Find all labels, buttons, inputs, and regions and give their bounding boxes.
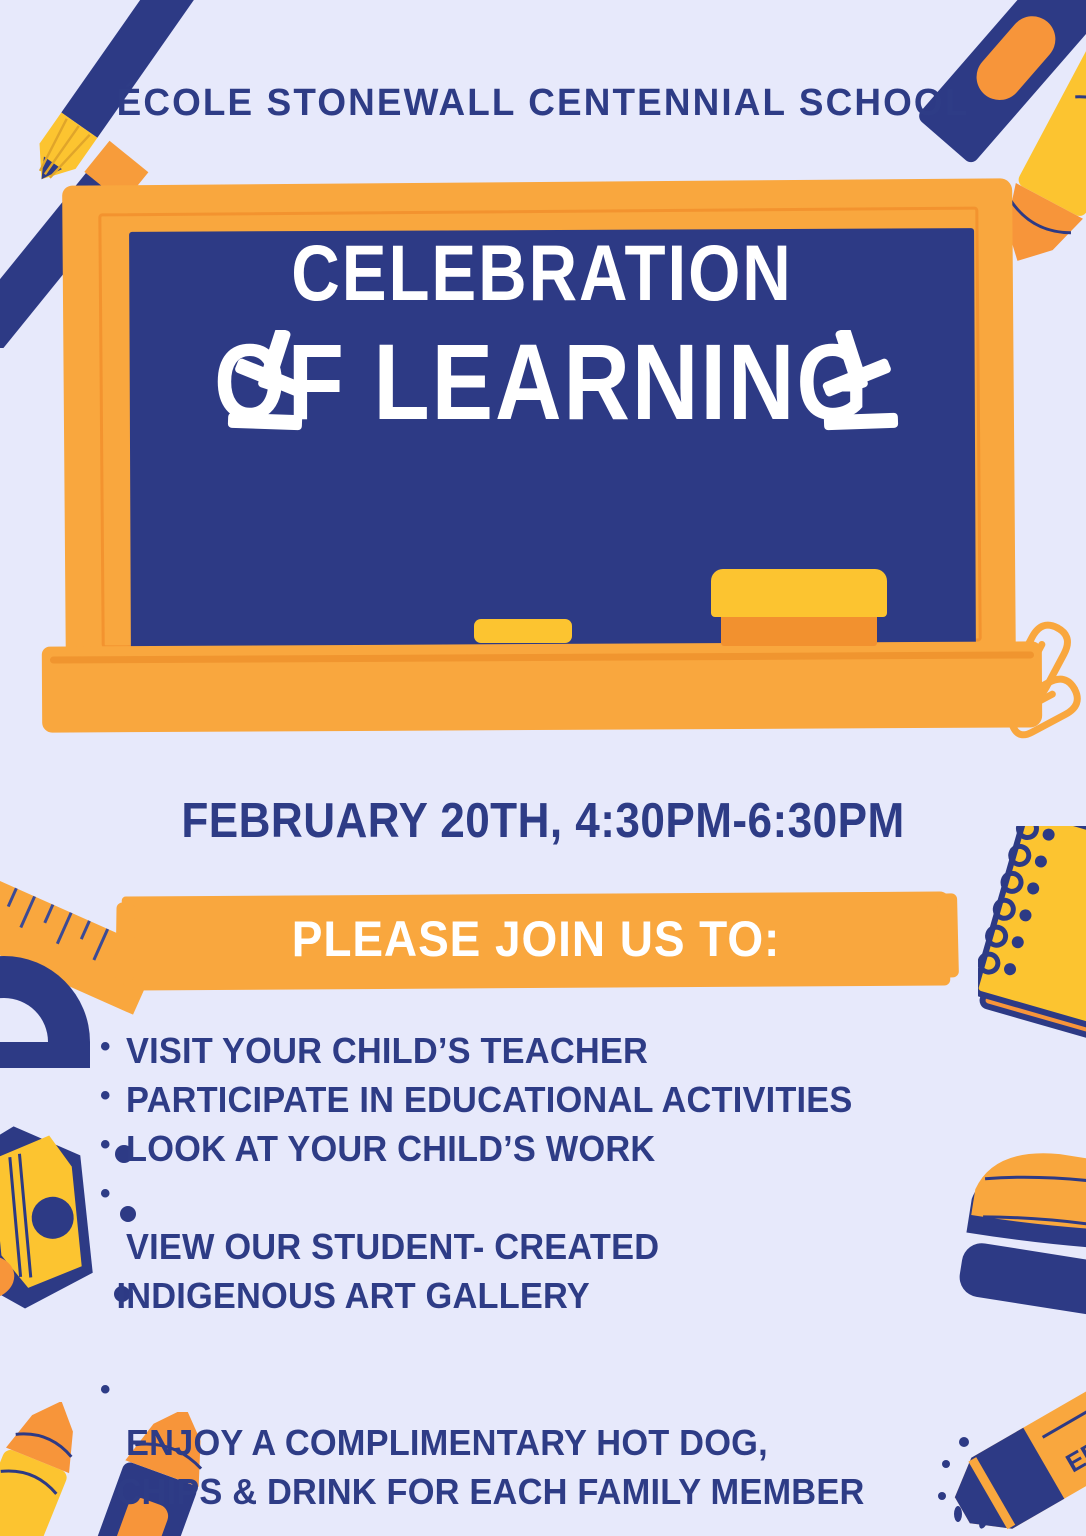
list-item-label: ENJOY A COMPLIMENTARY HOT DOG, CHIPS & D… bbox=[126, 1370, 989, 1536]
chalkboard-title: CELEBRATION OF LEARNING bbox=[42, 238, 1042, 434]
join-us-banner: PLEASE JOIN US TO: bbox=[122, 894, 950, 988]
board-eraser-icon bbox=[711, 569, 887, 617]
chalkboard-title-line-2: OF LEARNING bbox=[62, 327, 1022, 440]
list-item: • VISIT YOUR CHILD’S TEACHER bbox=[100, 1027, 1030, 1076]
bullet-marker: • bbox=[100, 1370, 126, 1411]
list-item-line-2: INDIGENOUS ART GALLERY bbox=[116, 1272, 989, 1321]
poster-canvas: ERASER bbox=[0, 0, 1086, 1536]
bullet-marker: • bbox=[100, 1174, 126, 1215]
list-item-label: LOOK AT YOUR CHILD’S WORK bbox=[126, 1125, 989, 1174]
list-item-label: VISIT YOUR CHILD’S TEACHER bbox=[126, 1027, 989, 1076]
event-date-time: FEBRUARY 20TH, 4:30PM-6:30PM bbox=[54, 793, 1031, 849]
svg-text:ERASER: ERASER bbox=[1061, 1398, 1086, 1478]
chalkboard-title-line-1: CELEBRATION bbox=[62, 234, 1022, 314]
list-item-line-1: VIEW OUR STUDENT- CREATED bbox=[126, 1226, 659, 1267]
list-item-label: PARTICIPATE IN EDUCATIONAL ACTIVITIES bbox=[126, 1076, 989, 1125]
list-item: • VIEW OUR STUDENT- CREATED INDIGENOUS A… bbox=[100, 1174, 1030, 1370]
board-eraser-base bbox=[721, 612, 877, 646]
list-item-line-2: CHIPS & DRINK FOR EACH FAMILY MEMBER bbox=[116, 1468, 989, 1517]
banner-label: PLEASE JOIN US TO: bbox=[155, 894, 917, 988]
bullet-marker: • bbox=[100, 1027, 126, 1068]
list-item-line-1: ENJOY A COMPLIMENTARY HOT DOG, bbox=[126, 1422, 768, 1463]
list-item-label: VIEW OUR STUDENT- CREATED INDIGENOUS ART… bbox=[126, 1174, 989, 1370]
list-item: • LOOK AT YOUR CHILD’S WORK bbox=[100, 1125, 1030, 1174]
activities-list: • VISIT YOUR CHILD’S TEACHER • PARTICIPA… bbox=[100, 1027, 1030, 1536]
list-item: • PARTICIPATE IN EDUCATIONAL ACTIVITIES bbox=[100, 1076, 1030, 1125]
bullet-marker: • bbox=[100, 1125, 126, 1166]
notebook-icon bbox=[978, 826, 1086, 1046]
bullet-marker: • bbox=[100, 1076, 126, 1117]
list-item: • ENJOY A COMPLIMENTARY HOT DOG, CHIPS &… bbox=[100, 1370, 1030, 1536]
chalk-icon bbox=[474, 619, 572, 643]
chalkboard: CELEBRATION OF LEARNING bbox=[42, 182, 1042, 742]
page-title: ÉCOLE STONEWALL CENTENNIAL SCHOOL bbox=[16, 78, 1069, 128]
